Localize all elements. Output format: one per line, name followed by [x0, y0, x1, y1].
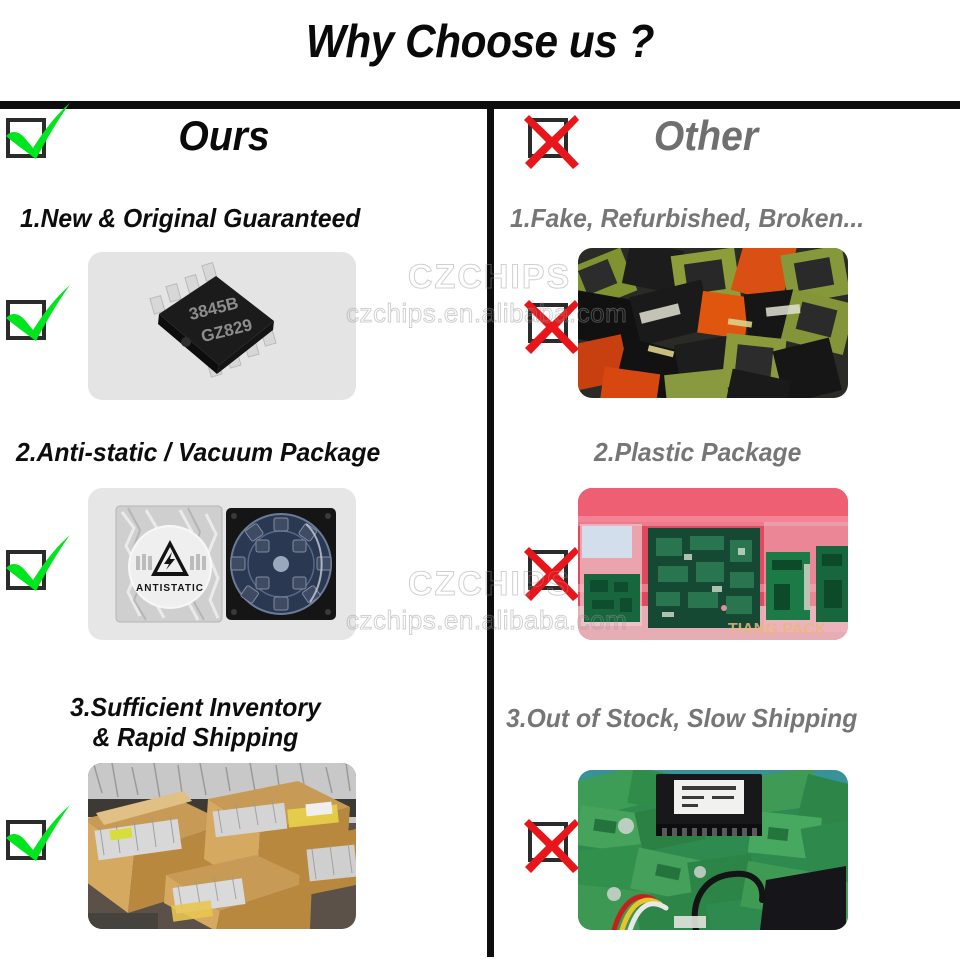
ours-row-2-check-box	[6, 550, 46, 590]
pcb-in-pink-plastic-bag-photo: TIANG PACK	[578, 488, 848, 640]
other-row-1-cross-box	[528, 303, 568, 343]
other-row-1-label: 1.Fake, Refurbished, Broken...	[510, 203, 864, 233]
header-check-mark-box	[6, 118, 46, 158]
cross-mark-icon	[521, 815, 583, 877]
green-pcb-scrap-pile-photo	[578, 770, 848, 930]
ours-row-3-check-box	[6, 820, 46, 860]
stock-cartons-photo	[88, 763, 356, 929]
column-header-ours: Ours	[178, 112, 269, 160]
cross-mark-icon	[521, 111, 583, 173]
check-mark-icon	[2, 100, 72, 166]
ours-row-1-check-box	[6, 300, 46, 340]
check-mark-icon	[2, 802, 72, 868]
ours-row-3-label: 3.Sufficient Inventory & Rapid Shipping	[70, 692, 321, 752]
check-mark-icon	[2, 282, 72, 348]
cross-mark-icon	[521, 296, 583, 358]
cross-mark-icon	[521, 543, 583, 605]
header-cross-mark-box	[528, 118, 568, 158]
header-divider	[0, 101, 960, 109]
other-row-2-cross-box	[528, 550, 568, 590]
other-row-2-label: 2.Plastic Package	[594, 437, 801, 467]
page-title: Why Choose us ?	[38, 14, 921, 68]
svg-text:ANTISTATIC: ANTISTATIC	[136, 583, 204, 594]
ic-chip-sop8-photo: 3845B GZ829	[88, 252, 356, 400]
ours-row-1-label: 1.New & Original Guaranteed	[20, 203, 360, 233]
why-choose-us-infographic: Why Choose us ? Ours Other 1.New & Origi…	[0, 0, 960, 960]
ours-row-2-label: 2.Anti-static / Vacuum Package	[16, 437, 380, 467]
column-divider	[487, 105, 494, 957]
check-mark-icon	[2, 532, 72, 598]
other-row-3-label: 3.Out of Stock, Slow Shipping	[506, 703, 857, 733]
column-header-other: Other	[654, 112, 758, 160]
antistatic-bag-and-reel-photo: ANTISTATIC	[88, 488, 356, 640]
bag-print-text: TIANG PACK	[728, 621, 827, 638]
scrap-bga-modules-photo	[578, 248, 848, 398]
other-row-3-cross-box	[528, 822, 568, 862]
